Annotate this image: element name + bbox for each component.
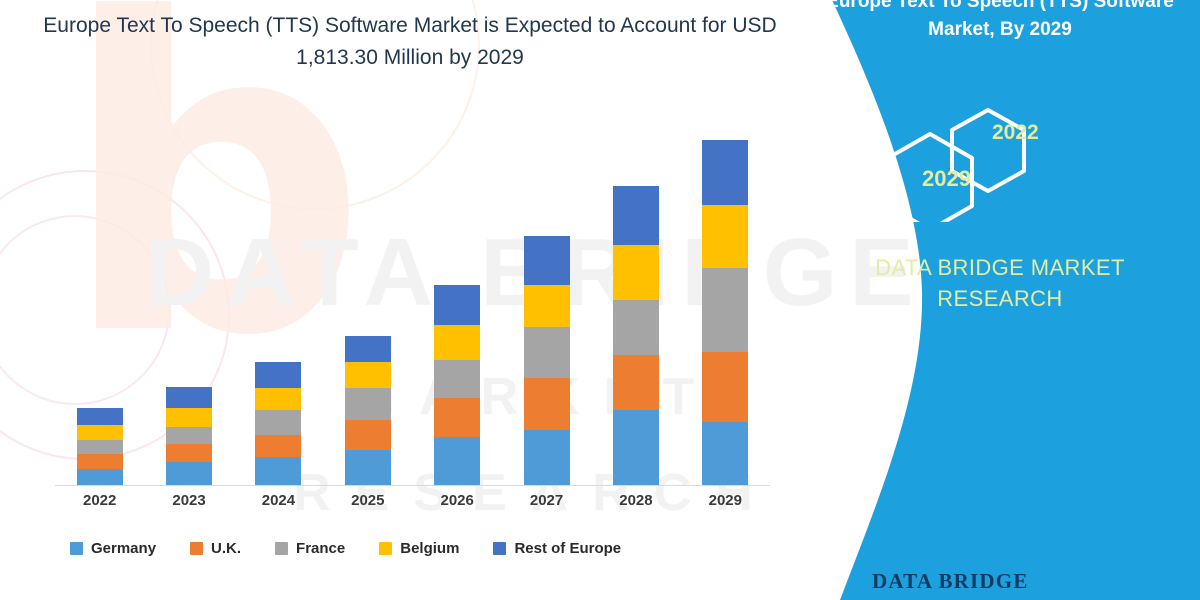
- bar-segment-france: [702, 268, 748, 352]
- legend-item-rest-of-europe[interactable]: Rest of Europe: [493, 540, 621, 557]
- bar-segment-belgium: [255, 388, 301, 410]
- chart-legend: GermanyU.K.FranceBelgiumRest of Europe: [70, 540, 770, 557]
- bar-segment-u-k-: [255, 435, 301, 457]
- legend-swatch-icon: [493, 542, 506, 555]
- stacked-bar-2027: [524, 236, 570, 485]
- hexagon-label-2029: 2029: [922, 166, 971, 192]
- stacked-bar-group: [55, 120, 770, 485]
- brand-line2: RESEARCH: [800, 283, 1200, 314]
- x-axis-label-2024: 2024: [255, 492, 301, 518]
- stacked-bar-2022: [77, 408, 123, 485]
- x-axis-label-2023: 2023: [166, 492, 212, 518]
- hexagon-group: [800, 92, 1200, 222]
- bar-segment-rest-of-europe: [524, 236, 570, 285]
- chart-plot-area: [55, 120, 770, 486]
- bar-segment-rest-of-europe: [255, 362, 301, 388]
- stacked-bar-2029: [702, 140, 748, 485]
- legend-swatch-icon: [190, 542, 203, 555]
- infographic-canvas: b DATA BRIDGE MARKET RESEARCH Europe Tex…: [0, 0, 1200, 600]
- bar-segment-germany: [524, 430, 570, 485]
- brand-line1: DATA BRIDGE MARKET: [800, 252, 1200, 283]
- x-axis-label-2029: 2029: [702, 492, 748, 518]
- x-axis-label-2022: 2022: [77, 492, 123, 518]
- legend-label: France: [296, 540, 345, 557]
- bar-segment-rest-of-europe: [345, 336, 391, 362]
- bar-segment-rest-of-europe: [434, 285, 480, 325]
- bar-segment-u-k-: [702, 352, 748, 422]
- legend-swatch-icon: [379, 542, 392, 555]
- bar-segment-france: [255, 410, 301, 435]
- bar-segment-belgium: [702, 205, 748, 268]
- x-axis-label-2025: 2025: [345, 492, 391, 518]
- bar-segment-france: [524, 327, 570, 378]
- brand-name: DATA BRIDGE MARKET RESEARCH: [800, 252, 1200, 314]
- bar-segment-france: [166, 427, 212, 444]
- legend-item-france[interactable]: France: [275, 540, 345, 557]
- x-axis-line: [55, 485, 770, 486]
- legend-swatch-icon: [70, 542, 83, 555]
- x-axis-label-2027: 2027: [524, 492, 570, 518]
- stacked-bar-2024: [255, 362, 301, 485]
- bar-segment-belgium: [434, 325, 480, 360]
- hexagon-label-2022: 2022: [992, 121, 1039, 145]
- bar-segment-germany: [77, 469, 123, 485]
- bar-segment-germany: [613, 410, 659, 485]
- legend-item-germany[interactable]: Germany: [70, 540, 156, 557]
- bar-segment-u-k-: [166, 444, 212, 462]
- bar-segment-u-k-: [77, 454, 123, 469]
- bar-segment-u-k-: [434, 398, 480, 437]
- footer-logo: DATA BRIDGE: [818, 554, 1029, 598]
- bar-segment-germany: [345, 450, 391, 485]
- legend-label: Rest of Europe: [514, 540, 621, 557]
- bar-segment-belgium: [77, 425, 123, 440]
- stacked-bar-2023: [166, 387, 212, 485]
- bar-segment-rest-of-europe: [613, 186, 659, 245]
- bar-segment-rest-of-europe: [166, 387, 212, 408]
- x-axis-label-2028: 2028: [613, 492, 659, 518]
- bar-segment-france: [613, 300, 659, 355]
- bar-segment-u-k-: [345, 420, 391, 450]
- bar-segment-germany: [166, 462, 212, 485]
- legend-label: U.K.: [211, 540, 241, 557]
- legend-item-u-k-[interactable]: U.K.: [190, 540, 241, 557]
- bar-segment-france: [345, 388, 391, 420]
- bar-segment-belgium: [166, 408, 212, 427]
- legend-item-belgium[interactable]: Belgium: [379, 540, 459, 557]
- stacked-bar-2026: [434, 285, 480, 485]
- hexagon-shapes: [800, 92, 1200, 222]
- bar-segment-belgium: [524, 285, 570, 327]
- stacked-bar-2025: [345, 336, 391, 485]
- chart-title: Europe Text To Speech (TTS) Software Mar…: [40, 10, 780, 74]
- stacked-bar-2028: [613, 186, 659, 485]
- bar-segment-rest-of-europe: [702, 140, 748, 205]
- bar-segment-u-k-: [524, 378, 570, 430]
- bar-segment-germany: [255, 457, 301, 485]
- x-axis-label-2026: 2026: [434, 492, 480, 518]
- bar-segment-belgium: [345, 362, 391, 388]
- bar-segment-u-k-: [613, 355, 659, 410]
- bar-segment-france: [434, 360, 480, 398]
- bar-segment-germany: [702, 422, 748, 485]
- bar-segment-belgium: [613, 245, 659, 300]
- brand-panel: Europe Text To Speech (TTS) Software Mar…: [800, 0, 1200, 600]
- bar-segment-france: [77, 440, 123, 454]
- legend-label: Belgium: [400, 540, 459, 557]
- data-bridge-logo-icon: [818, 554, 862, 598]
- x-axis-labels: 20222023202420252026202720282029: [55, 492, 770, 518]
- legend-label: Germany: [91, 540, 156, 557]
- legend-swatch-icon: [275, 542, 288, 555]
- bar-segment-germany: [434, 437, 480, 485]
- bar-segment-rest-of-europe: [77, 408, 123, 425]
- panel-title: Europe Text To Speech (TTS) Software Mar…: [800, 0, 1200, 44]
